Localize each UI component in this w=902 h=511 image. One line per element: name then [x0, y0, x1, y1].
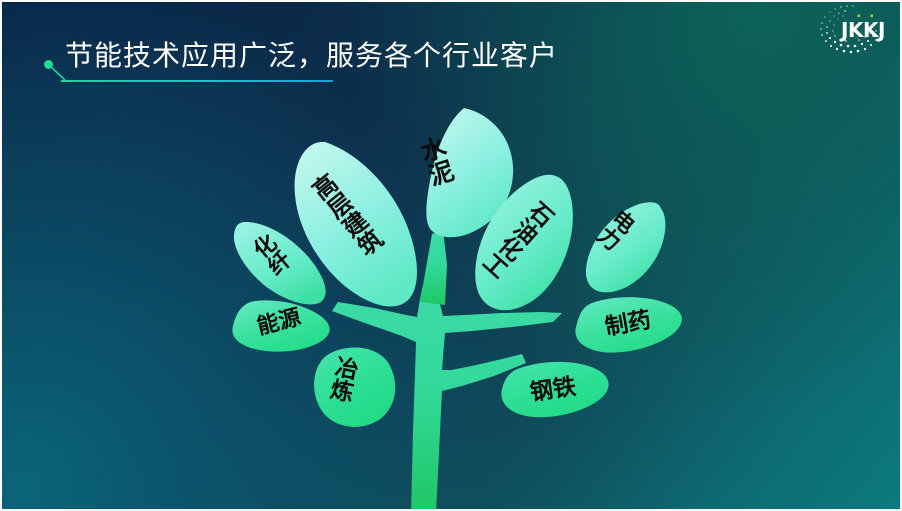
industry-tree-diagram — [2, 2, 902, 511]
jkkj-logo: JKKJ — [814, 4, 890, 56]
page-title: 节能技术应用广泛，服务各个行业客户 — [65, 36, 558, 76]
logo-green-accent-left — [858, 15, 861, 18]
title-underline — [61, 80, 333, 82]
logo-green-accent-right — [871, 15, 874, 18]
leaf-smelting — [314, 347, 395, 426]
leaf-energy — [232, 300, 329, 351]
leaf-pharmaceutical — [575, 297, 681, 352]
slide-background: 水泥 高层建筑 化纤 能源 冶炼 石油化工 电力 制药 钢铁 节能技术应用广泛，… — [2, 2, 900, 509]
slide-canvas: 水泥 高层建筑 化纤 能源 冶炼 石油化工 电力 制药 钢铁 节能技术应用广泛，… — [0, 0, 902, 511]
logo-wordmark: JKKJ — [841, 18, 885, 42]
leaf-electric-power — [586, 202, 665, 292]
leaf-steel — [501, 362, 608, 417]
